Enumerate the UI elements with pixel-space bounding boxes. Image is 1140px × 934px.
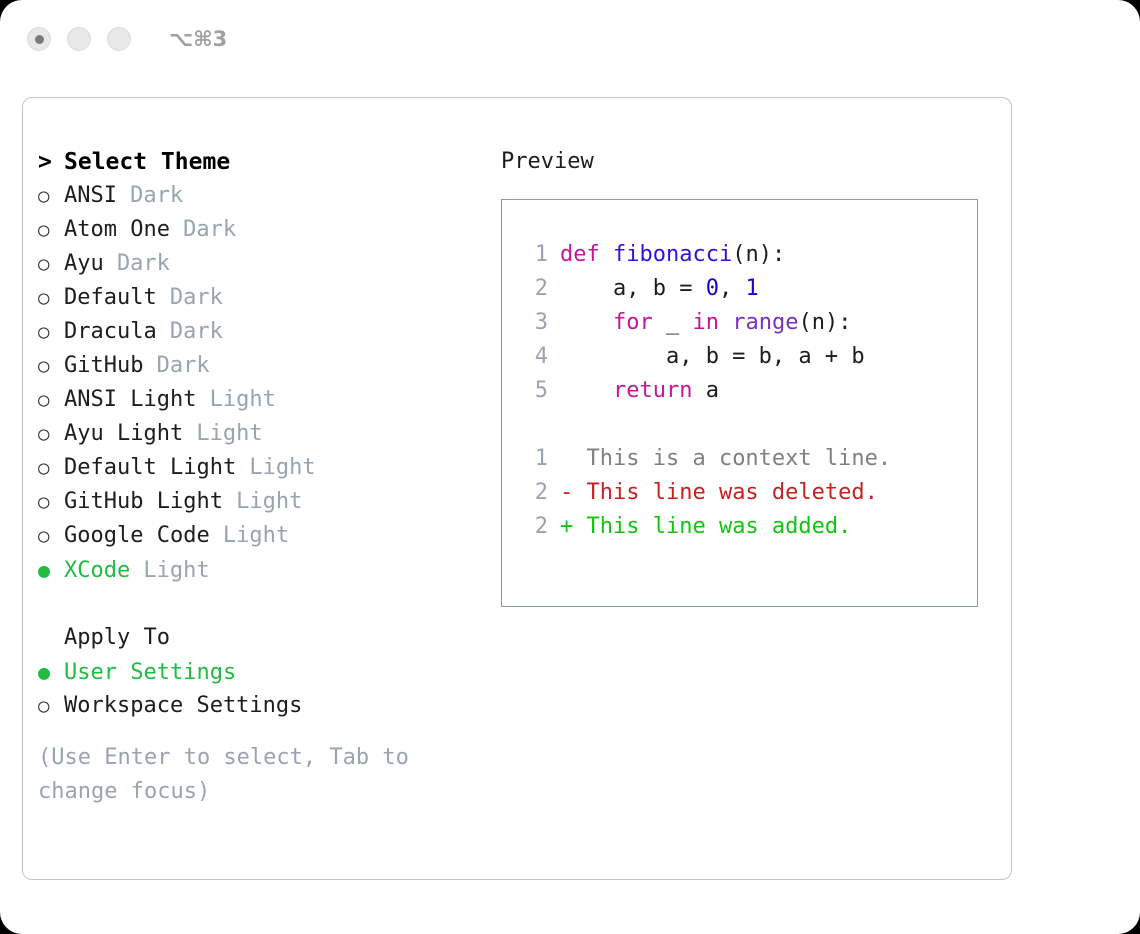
apply-to-option-user-settings[interactable]: ●User Settings	[38, 655, 488, 689]
line-number: 4	[522, 340, 548, 374]
preview-title: Preview	[501, 145, 996, 179]
theme-kind-badge: Dark	[170, 285, 223, 310]
radio-selected-icon[interactable]: ●	[38, 655, 64, 689]
window-dot-2[interactable]	[67, 27, 91, 51]
theme-kind-badge: Dark	[170, 319, 223, 344]
code-token	[560, 378, 613, 403]
line-number: 1	[522, 442, 548, 476]
code-token: 0	[706, 276, 719, 301]
code-token: _	[653, 310, 693, 335]
diff-text: This is a context line.	[573, 446, 891, 471]
theme-kind-badge: Dark	[117, 251, 170, 276]
theme-option-google-code[interactable]: ○Google CodeLight	[38, 519, 488, 553]
diff-text: This line was added.	[573, 514, 851, 539]
window-dot-active[interactable]	[27, 27, 51, 51]
theme-option-label: Ayu Light	[64, 421, 183, 446]
code-token: for	[613, 310, 653, 335]
radio-unselected-icon[interactable]: ○	[38, 213, 64, 247]
radio-unselected-icon[interactable]: ○	[38, 383, 64, 417]
code-token: fibonacci	[613, 242, 732, 267]
radio-unselected-icon[interactable]: ○	[38, 451, 64, 485]
apply-to-option-label: User Settings	[64, 660, 236, 685]
apply-to-option-list[interactable]: ●User Settings○Workspace Settings	[38, 655, 488, 723]
prompt-caret-icon: >	[38, 145, 64, 179]
diff-marker	[560, 446, 573, 471]
code-token: def	[560, 242, 613, 267]
code-token: ,	[719, 276, 746, 301]
code-token: return	[613, 378, 692, 403]
code-token	[719, 310, 732, 335]
theme-option-default[interactable]: ○DefaultDark	[38, 281, 488, 315]
window-dot-active-fill	[35, 35, 44, 44]
theme-list-column: >Select Theme ○ANSIDark○Atom OneDark○Ayu…	[38, 145, 488, 809]
theme-kind-badge: Light	[223, 523, 289, 548]
theme-option-atom-one[interactable]: ○Atom OneDark	[38, 213, 488, 247]
theme-kind-badge: Light	[236, 489, 302, 514]
code-token	[560, 310, 613, 335]
preview-box: 1def fibonacci(n):2 a, b = 0, 13 for _ i…	[501, 199, 978, 607]
radio-unselected-icon[interactable]: ○	[38, 349, 64, 383]
line-number: 5	[522, 374, 548, 408]
theme-option-ayu[interactable]: ○AyuDark	[38, 247, 488, 281]
theme-option-ansi-light[interactable]: ○ANSI LightLight	[38, 383, 488, 417]
window-dot-3[interactable]	[107, 27, 131, 51]
diff-marker: -	[560, 480, 573, 505]
code-line: 3 for _ in range(n):	[502, 306, 977, 340]
diff-text: This line was deleted.	[573, 480, 878, 505]
window-controls	[27, 27, 131, 51]
theme-kind-badge: Dark	[183, 217, 236, 242]
apply-to-header: ○Apply To	[38, 621, 488, 655]
theme-option-list[interactable]: ○ANSIDark○Atom OneDark○AyuDark○DefaultDa…	[38, 179, 488, 587]
theme-kind-badge: Light	[249, 455, 315, 480]
radio-unselected-icon[interactable]: ○	[38, 315, 64, 349]
theme-kind-badge: Dark	[130, 183, 183, 208]
apply-to-option-label: Workspace Settings	[64, 693, 302, 718]
theme-option-github[interactable]: ○GitHubDark	[38, 349, 488, 383]
apply-to-option-workspace-settings[interactable]: ○Workspace Settings	[38, 689, 488, 723]
line-number: 2	[522, 510, 548, 544]
theme-kind-badge: Light	[210, 387, 276, 412]
radio-unselected-icon[interactable]: ○	[38, 417, 64, 451]
diff-line: 2+ This line was added.	[502, 510, 977, 544]
theme-selector-panel: >Select Theme ○ANSIDark○Atom OneDark○Ayu…	[22, 97, 1012, 880]
code-token: 1	[745, 276, 758, 301]
radio-unselected-icon[interactable]: ○	[38, 519, 64, 553]
theme-option-label: Google Code	[64, 523, 210, 548]
radio-unselected-icon[interactable]: ○	[38, 689, 64, 723]
code-line: 1def fibonacci(n):	[502, 238, 977, 272]
title-bar: ⌥⌘3	[0, 0, 1140, 78]
radio-unselected-icon[interactable]: ○	[38, 281, 64, 315]
apply-to-spacer-icon: ○	[38, 621, 64, 655]
line-number: 2	[522, 476, 548, 510]
theme-option-label: ANSI	[64, 183, 117, 208]
theme-option-github-light[interactable]: ○GitHub LightLight	[38, 485, 488, 519]
app-window: ⌥⌘3 >Select Theme ○ANSIDark○Atom OneDark…	[0, 0, 1140, 934]
theme-option-label: Default Light	[64, 455, 236, 480]
help-text: (Use Enter to select, Tab to change focu…	[38, 741, 448, 809]
theme-option-default-light[interactable]: ○Default LightLight	[38, 451, 488, 485]
theme-option-label: Dracula	[64, 319, 157, 344]
theme-option-label: GitHub	[64, 353, 143, 378]
code-token: a	[692, 378, 719, 403]
theme-option-ansi[interactable]: ○ANSIDark	[38, 179, 488, 213]
select-theme-header-label: Select Theme	[64, 149, 230, 175]
code-token: range	[732, 310, 798, 335]
preview-column: Preview 1def fibonacci(n):2 a, b = 0, 13…	[501, 145, 996, 607]
theme-option-label: Ayu	[64, 251, 104, 276]
diff-preview: 1 This is a context line.2- This line wa…	[502, 442, 977, 544]
theme-option-ayu-light[interactable]: ○Ayu LightLight	[38, 417, 488, 451]
theme-kind-badge: Light	[196, 421, 262, 446]
diff-marker: +	[560, 514, 573, 539]
radio-unselected-icon[interactable]: ○	[38, 179, 64, 213]
theme-option-label: XCode	[64, 558, 130, 583]
select-theme-header: >Select Theme	[38, 145, 488, 179]
theme-option-label: Atom One	[64, 217, 170, 242]
keyboard-shortcut-label: ⌥⌘3	[169, 27, 227, 51]
line-number: 2	[522, 272, 548, 306]
section-gap	[38, 587, 488, 621]
theme-option-label: ANSI Light	[64, 387, 196, 412]
diff-line: 1 This is a context line.	[502, 442, 977, 476]
code-token: in	[692, 310, 719, 335]
code-line: 2 a, b = 0, 1	[502, 272, 977, 306]
code-line: 5 return a	[502, 374, 977, 408]
line-number: 1	[522, 238, 548, 272]
theme-option-xcode[interactable]: ●XCodeLight	[38, 553, 488, 587]
radio-unselected-icon[interactable]: ○	[38, 247, 64, 281]
radio-selected-icon[interactable]: ●	[38, 553, 64, 587]
theme-option-dracula[interactable]: ○DraculaDark	[38, 315, 488, 349]
apply-to-header-label: Apply To	[64, 625, 170, 650]
code-token: (n):	[798, 310, 851, 335]
radio-unselected-icon[interactable]: ○	[38, 485, 64, 519]
theme-kind-badge: Light	[143, 558, 209, 583]
code-preview: 1def fibonacci(n):2 a, b = 0, 13 for _ i…	[502, 238, 977, 408]
code-token: a, b = b, a + b	[560, 344, 865, 369]
code-token: a, b =	[560, 276, 706, 301]
diff-line: 2- This line was deleted.	[502, 476, 977, 510]
theme-option-label: Default	[64, 285, 157, 310]
code-line: 4 a, b = b, a + b	[502, 340, 977, 374]
line-number: 3	[522, 306, 548, 340]
theme-option-label: GitHub Light	[64, 489, 223, 514]
code-token: (n):	[732, 242, 785, 267]
theme-kind-badge: Dark	[157, 353, 210, 378]
code-diff-gap	[502, 408, 977, 442]
